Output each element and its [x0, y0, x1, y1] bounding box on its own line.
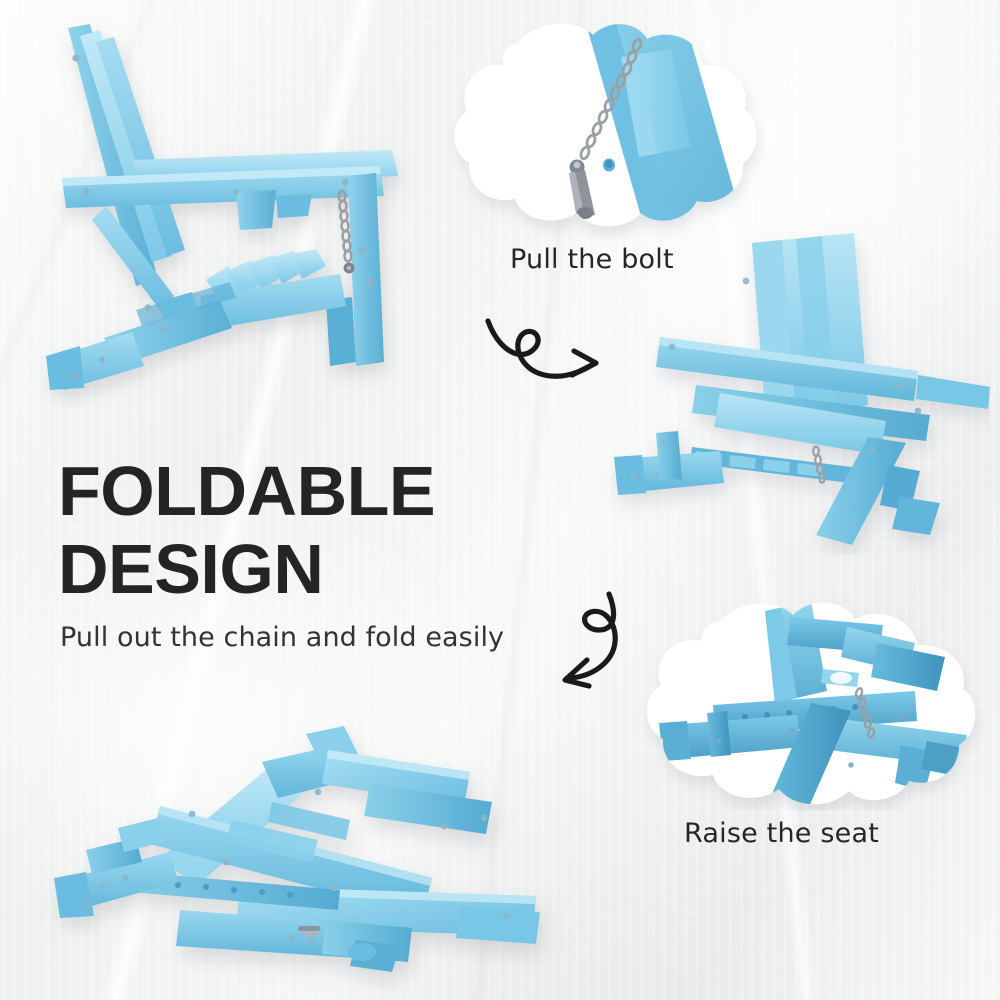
curly-arrow-down-left-icon — [535, 590, 650, 690]
chair-open-hardware — [71, 54, 374, 379]
chain-icon — [298, 926, 320, 936]
callout-bubble-raise-the-seat — [615, 595, 1000, 810]
callout-caption-pull-the-bolt: Pull the bolt — [510, 244, 674, 275]
page-title: FOLDABLE DESIGN — [58, 452, 435, 608]
chair-collapsed-image — [40, 710, 580, 990]
chair-unfolded-image — [40, 10, 460, 410]
bolt-closeup-photo — [569, 15, 755, 240]
chain-icon — [813, 446, 825, 482]
pull-bolt-icon — [569, 160, 595, 220]
chair-flat-hardware — [83, 789, 509, 943]
chair-tilt-hardware — [631, 278, 922, 481]
cloud-shape — [647, 603, 975, 805]
page-subtitle: Pull out the chain and fold easily — [60, 622, 504, 653]
chain-icon — [339, 191, 355, 274]
cloud-shape — [454, 24, 756, 227]
chair-tilt-body — [614, 233, 990, 545]
callout-bubble-pull-the-bolt — [425, 15, 765, 240]
product-infographic-poster: Pull the bolt — [0, 0, 1000, 1000]
chair-open-body — [46, 24, 398, 390]
raise-seat-closeup-photo — [659, 601, 967, 810]
chair-flat-body — [54, 726, 540, 972]
curly-arrow-right-icon — [480, 305, 625, 400]
callout-caption-raise-the-seat: Raise the seat — [684, 818, 879, 849]
